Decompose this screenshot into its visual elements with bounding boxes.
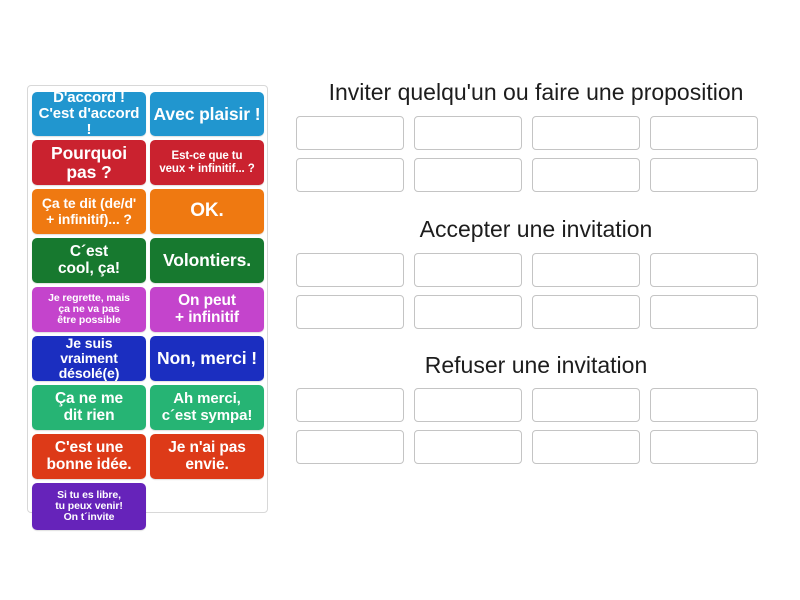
- tile-line: C´est: [70, 243, 108, 260]
- tile-line: Volontiers.: [153, 251, 261, 270]
- tile-row: Pourquoi pas ? Est-ce que tu veux + infi…: [32, 140, 262, 185]
- tile-line: tu peux venir!: [55, 500, 122, 512]
- tile-ah-merci-cest-sympa[interactable]: Ah merci, c´est sympa!: [150, 385, 264, 430]
- tile-daccord[interactable]: D'accord ! C'est d'accord !: [32, 92, 146, 136]
- tile-line: veux + infinitif... ?: [159, 163, 254, 175]
- group-title: Inviter quelqu'un ou faire une propositi…: [296, 78, 776, 107]
- tile-line: D'accord !: [53, 92, 125, 106]
- drop-slot[interactable]: [532, 430, 640, 464]
- tile-je-suis-vraiment-desole[interactable]: Je suis vraiment désolé(e): [32, 336, 146, 381]
- group-slot-grid: [296, 253, 776, 329]
- tile-line: Ça ne me: [55, 390, 123, 407]
- tile-non-merci[interactable]: Non, merci !: [150, 336, 264, 381]
- drop-slot[interactable]: [414, 430, 522, 464]
- drop-slot[interactable]: [532, 388, 640, 422]
- tile-si-tu-es-libre[interactable]: Si tu es libre, tu peux venir! On t´invi…: [32, 483, 146, 530]
- tile-line: bonne idée.: [46, 456, 131, 473]
- tile-line: C'est une: [55, 439, 123, 456]
- group-title: Refuser une invitation: [296, 351, 776, 380]
- tile-pourquoi-pas[interactable]: Pourquoi pas ?: [32, 140, 146, 185]
- drop-slot[interactable]: [650, 253, 758, 287]
- tile-je-regrette[interactable]: Je regrette, mais ça ne va pas être poss…: [32, 287, 146, 332]
- tile-volontiers[interactable]: Volontiers.: [150, 238, 264, 283]
- tile-on-peut-infinitif[interactable]: On peut + infinitif: [150, 287, 264, 332]
- drop-slot[interactable]: [296, 430, 404, 464]
- tile-line: C'est d'accord !: [39, 105, 140, 136]
- drop-slot[interactable]: [296, 116, 404, 150]
- tile-row: Je suis vraiment désolé(e) Non, merci !: [32, 336, 262, 381]
- drop-slot[interactable]: [414, 116, 522, 150]
- drop-slot[interactable]: [296, 388, 404, 422]
- drop-slot[interactable]: [296, 158, 404, 192]
- tile-row: Ça ne me dit rien Ah merci, c´est sympa!: [32, 385, 262, 430]
- drop-slot[interactable]: [532, 295, 640, 329]
- group-accepter: Accepter une invitation: [296, 215, 776, 329]
- tile-line: désolé(e): [59, 365, 120, 381]
- tile-line: dit rien: [64, 407, 115, 424]
- tile-cest-cool-ca[interactable]: C´est cool, ça!: [32, 238, 146, 283]
- drop-slot[interactable]: [532, 253, 640, 287]
- tile-line: Est-ce que tu: [172, 150, 243, 162]
- tile-line: Si tu es libre,: [57, 489, 121, 501]
- tile-cest-une-bonne-idee[interactable]: C'est une bonne idée.: [32, 434, 146, 479]
- tile-line: pas ?: [66, 162, 111, 182]
- drop-slot[interactable]: [414, 388, 522, 422]
- tile-line: cool, ça!: [58, 260, 120, 277]
- tile-line: Ça te dit (de/d': [42, 195, 136, 211]
- group-slot-grid: [296, 388, 776, 464]
- tile-row: Si tu es libre, tu peux venir! On t´invi…: [32, 483, 262, 530]
- drop-slot[interactable]: [650, 388, 758, 422]
- group-refuser: Refuser une invitation: [296, 351, 776, 465]
- tile-bank: D'accord ! C'est d'accord ! Avec plaisir…: [27, 85, 268, 513]
- tile-ca-ne-me-dit-rien[interactable]: Ça ne me dit rien: [32, 385, 146, 430]
- tile-line: Je n'ai pas: [168, 439, 246, 456]
- tile-line: Avec plaisir !: [153, 105, 261, 124]
- group-spacer: [296, 329, 776, 351]
- tile-line: Je regrette, mais: [48, 292, 130, 304]
- drop-groups-area: Inviter quelqu'un ou faire une propositi…: [296, 78, 776, 523]
- tile-line: On peut: [178, 292, 236, 309]
- tile-line: Ah merci,: [173, 390, 240, 407]
- group-title: Accepter une invitation: [296, 215, 776, 244]
- tile-row: Je regrette, mais ça ne va pas être poss…: [32, 287, 262, 332]
- drop-slot[interactable]: [650, 430, 758, 464]
- tile-line: Pourquoi: [51, 143, 127, 163]
- drop-slot[interactable]: [414, 253, 522, 287]
- tile-line: Je suis vraiment: [60, 336, 118, 366]
- tile-line: + infinitif)... ?: [46, 211, 132, 227]
- tile-slot-empty: [150, 483, 262, 530]
- tile-line: OK.: [153, 201, 261, 222]
- tile-line: être possible: [57, 314, 120, 326]
- tile-je-nai-pas-envie[interactable]: Je n'ai pas envie.: [150, 434, 264, 479]
- tile-line: envie.: [185, 456, 228, 473]
- tile-line: ça ne va pas: [58, 303, 119, 315]
- tile-row: C'est une bonne idée. Je n'ai pas envie.: [32, 434, 262, 479]
- group-inviter: Inviter quelqu'un ou faire une propositi…: [296, 78, 776, 192]
- drop-slot[interactable]: [414, 158, 522, 192]
- drop-slot[interactable]: [650, 158, 758, 192]
- drop-slot[interactable]: [532, 116, 640, 150]
- group-spacer: [296, 192, 776, 215]
- drop-slot[interactable]: [650, 295, 758, 329]
- tile-line: On t´invite: [64, 511, 115, 523]
- tile-avec-plaisir[interactable]: Avec plaisir !: [150, 92, 264, 136]
- drop-slot[interactable]: [650, 116, 758, 150]
- drop-slot[interactable]: [296, 295, 404, 329]
- tile-line: Non, merci !: [153, 349, 261, 368]
- tile-line: + infinitif: [175, 309, 239, 326]
- tile-ca-te-dit[interactable]: Ça te dit (de/d' + infinitif)... ?: [32, 189, 146, 234]
- tile-row: C´est cool, ça! Volontiers.: [32, 238, 262, 283]
- tile-row: Ça te dit (de/d' + infinitif)... ? OK.: [32, 189, 262, 234]
- tile-est-ce-que-tu-veux[interactable]: Est-ce que tu veux + infinitif... ?: [150, 140, 264, 185]
- tile-ok[interactable]: OK.: [150, 189, 264, 234]
- drop-slot[interactable]: [414, 295, 522, 329]
- tile-row: D'accord ! C'est d'accord ! Avec plaisir…: [32, 92, 262, 136]
- drop-slot[interactable]: [532, 158, 640, 192]
- drop-slot[interactable]: [296, 253, 404, 287]
- tile-line: c´est sympa!: [162, 407, 253, 424]
- group-slot-grid: [296, 116, 776, 192]
